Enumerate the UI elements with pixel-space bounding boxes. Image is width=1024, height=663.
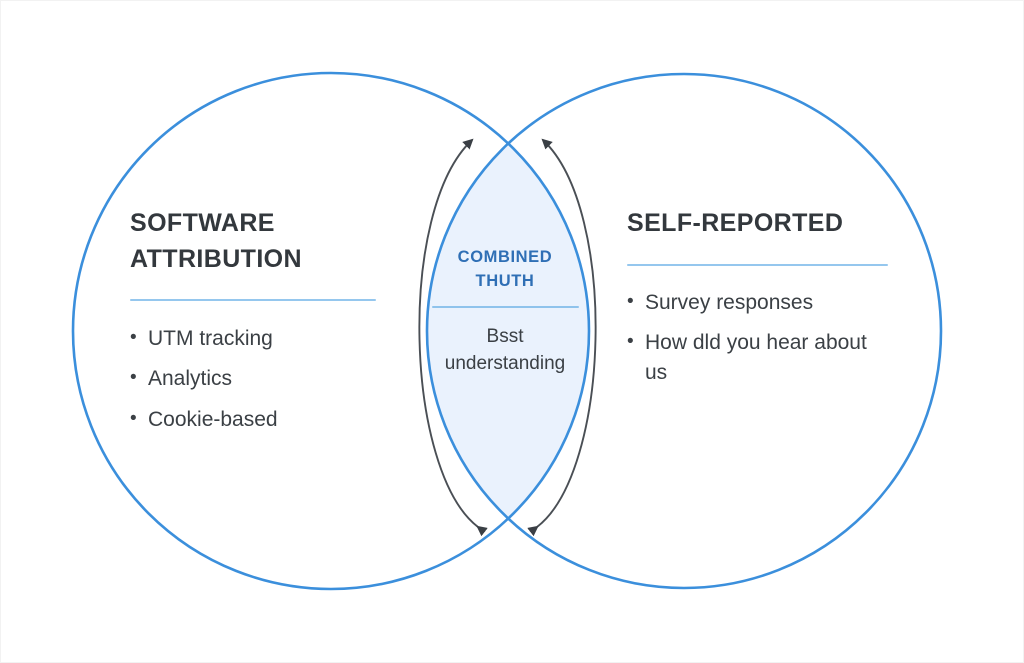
list-item-label: How dld you hear about us <box>645 328 892 389</box>
venn-diagram-canvas: SOFTWARE ATTRIBUTION • UTM tracking • An… <box>0 0 1024 663</box>
bullet-dot-icon: • <box>627 328 645 356</box>
overlap-divider <box>432 306 579 308</box>
list-item: • Survey responses <box>627 288 892 318</box>
bullet-dot-icon: • <box>627 288 645 316</box>
right-set-panel: SELF-REPORTED • Survey responses • How d… <box>627 206 892 399</box>
overlap-panel: COMBINED THUTH Bsst understanding <box>421 246 589 378</box>
left-set-list: • UTM tracking • Analytics • Cookie-base… <box>130 324 380 435</box>
list-item: • Analytics <box>130 364 380 394</box>
bullet-dot-icon: • <box>130 405 148 433</box>
list-item-label: Cookie-based <box>148 405 380 435</box>
list-item-label: UTM tracking <box>148 324 380 354</box>
right-set-divider <box>627 264 888 266</box>
right-set-heading: SELF-REPORTED <box>627 206 892 242</box>
left-set-divider <box>130 299 376 301</box>
list-item: • UTM tracking <box>130 324 380 354</box>
right-set-list: • Survey responses • How dld you hear ab… <box>627 288 892 389</box>
list-item-label: Analytics <box>148 364 380 394</box>
list-item: • Cookie-based <box>130 405 380 435</box>
list-item: • How dld you hear about us <box>627 328 892 389</box>
bullet-dot-icon: • <box>130 364 148 392</box>
left-set-panel: SOFTWARE ATTRIBUTION • UTM tracking • An… <box>130 206 380 445</box>
left-set-heading: SOFTWARE ATTRIBUTION <box>130 206 380 277</box>
overlap-heading: COMBINED THUTH <box>421 246 589 294</box>
bullet-dot-icon: • <box>130 324 148 352</box>
list-item-label: Survey responses <box>645 288 892 318</box>
overlap-subtitle: Bsst understanding <box>421 323 589 378</box>
